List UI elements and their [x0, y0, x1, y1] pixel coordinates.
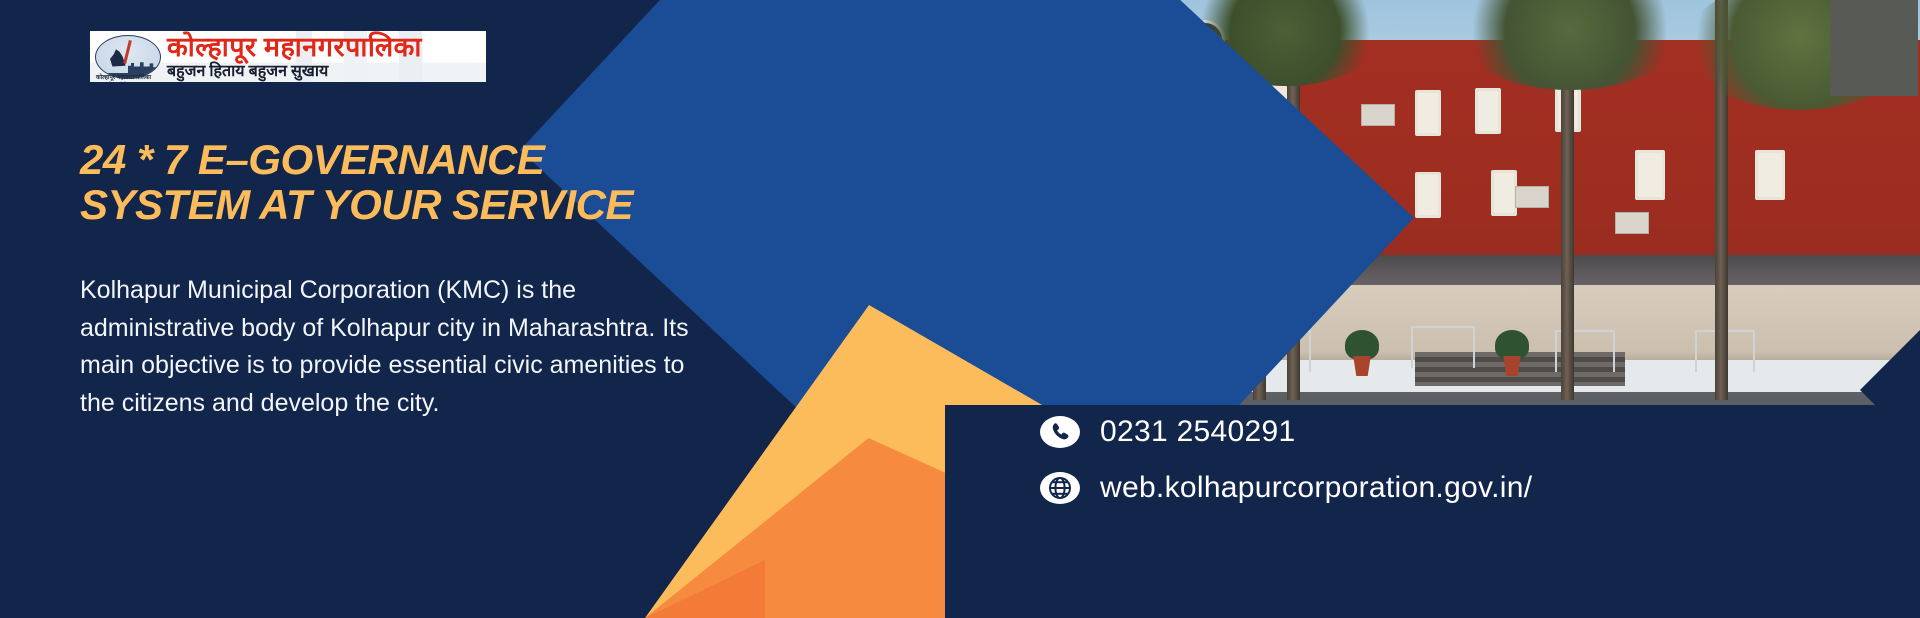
photo-potted-plant: [1495, 330, 1529, 360]
kmc-hero-banner: कोल्हापूर महानगरपालिका बहुजन हिताय बहुजन…: [0, 0, 1920, 618]
kmc-seal-icon: [95, 35, 161, 79]
photo-ac-unit: [1361, 104, 1395, 126]
photo-window: [1415, 90, 1441, 136]
photo-window: [1415, 172, 1441, 218]
photo-railing: [1411, 326, 1475, 368]
seal-lance: [123, 39, 132, 63]
page-title: 24 * 7 E–Governance System at your servi…: [80, 138, 720, 227]
hero-description: Kolhapur Municipal Corporation (KMC) is …: [80, 272, 690, 422]
photo-window: [1491, 170, 1517, 216]
contact-website-row[interactable]: web.kolhapurcorporation.gov.in/: [1040, 468, 1532, 508]
photo-tower: [1830, 0, 1918, 96]
seal-subcaption: स्थापना: दि. १५ नोव्हेंबर १९७२: [96, 81, 139, 82]
phone-number: 0231 2540291: [1100, 415, 1295, 449]
photo-potted-plant: [1345, 330, 1379, 360]
globe-icon: [1040, 468, 1080, 508]
logo-tagline: बहुजन हिताय बहुजन सुखाय: [167, 64, 422, 80]
logo-title: कोल्हापूर महानगरपालिका: [167, 34, 422, 61]
seal-caption: कोल्हापूर महानगरपालिका: [96, 73, 151, 81]
contact-block: 0231 2540291 web.kolhapurcorporation.gov…: [1040, 412, 1532, 508]
kmc-logo[interactable]: कोल्हापूर महानगरपालिका बहुजन हिताय बहुजन…: [90, 31, 486, 82]
photo-window: [1755, 150, 1785, 200]
seal-fort: [128, 60, 158, 74]
photo-ac-unit: [1515, 186, 1549, 208]
photo-window: [1475, 88, 1501, 134]
photo-window: [1635, 150, 1665, 200]
logo-text: कोल्हापूर महानगरपालिका बहुजन हिताय बहुजन…: [167, 34, 422, 80]
phone-icon: [1040, 412, 1080, 452]
photo-ac-unit: [1615, 212, 1649, 234]
contact-phone-row[interactable]: 0231 2540291: [1040, 412, 1532, 452]
website-url: web.kolhapurcorporation.gov.in/: [1100, 471, 1532, 505]
